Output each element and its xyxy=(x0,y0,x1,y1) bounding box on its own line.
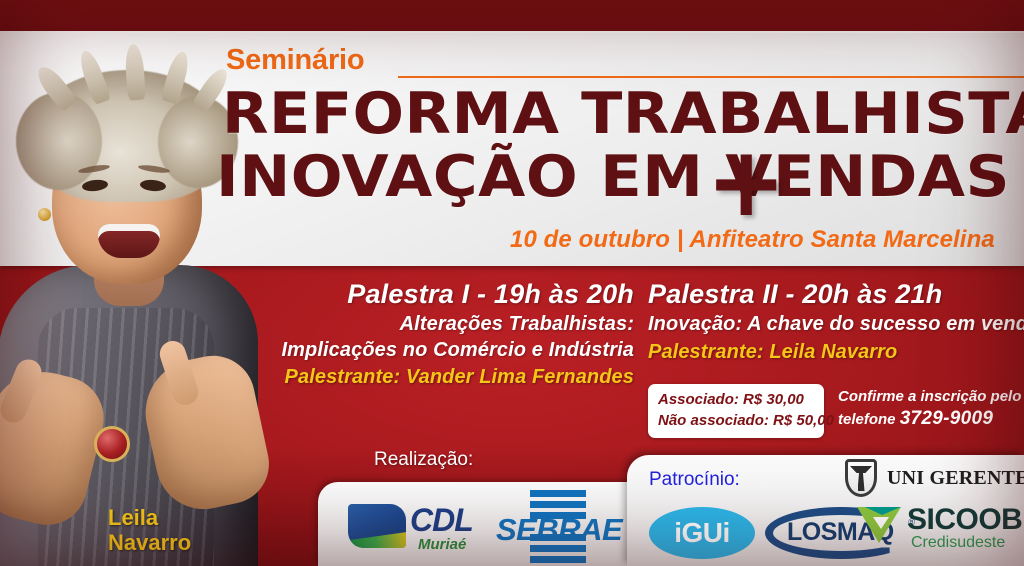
photo-ring xyxy=(94,426,130,462)
cdl-logo-text: CDL xyxy=(410,502,473,539)
patrocinio-panel: Patrocínio: UNI GERENTE iGUi LOSMAQ ® SI… xyxy=(627,455,1024,566)
necktie-icon xyxy=(858,467,865,491)
shield-icon xyxy=(845,459,877,497)
talk-one-line-1: Alterações Trabalhistas: xyxy=(0,311,634,337)
top-red-strip xyxy=(0,0,1024,31)
sicoob-logo[interactable]: SICOOB Credisudeste xyxy=(855,503,1019,559)
sicoob-triangle-icon xyxy=(855,505,903,545)
talk-one: Palestra I - 19h às 20h Alterações Traba… xyxy=(0,277,634,391)
realizacao-panel: CDL Muriaé SEBRAE xyxy=(318,482,654,566)
talk-one-heading: Palestra I - 19h às 20h xyxy=(0,277,634,311)
title-line-2: INOVAÇÃO EM VENDAS xyxy=(216,149,1010,206)
title-block: REFORMA TRABALHISTA INOVAÇÃO EM VENDAS + xyxy=(206,86,946,218)
talk-two-heading: Palestra II - 20h às 21h xyxy=(648,277,1024,311)
talk-one-speaker: Palestrante: Vander Lima Fernandes xyxy=(0,363,634,391)
cdl-logo-subtext: Muriaé xyxy=(418,536,466,553)
igui-logo[interactable]: iGUi xyxy=(649,507,755,559)
sebrae-logo[interactable]: SEBRAE xyxy=(496,490,646,560)
photo-mouth xyxy=(98,224,160,258)
realizacao-label: Realização: xyxy=(374,449,473,471)
cdl-logo[interactable]: CDL Muriaé xyxy=(348,498,498,556)
registration-note: Confirme a inscrição pelo telefone 3729-… xyxy=(838,386,1024,431)
talk-two: Palestra II - 20h às 21h Inovação: A cha… xyxy=(648,277,1024,366)
kicker-seminario: Seminário xyxy=(226,44,364,77)
title-plus-sign: + xyxy=(706,134,786,230)
uni-gerente-logo-text: UNI GERENTE xyxy=(887,467,1024,490)
photo-hair-spike xyxy=(124,44,146,101)
kicker-rule xyxy=(398,76,1024,78)
event-banner: Seminário REFORMA TRABALHISTA INOVAÇÃO E… xyxy=(0,0,1024,566)
event-date-venue: 10 de outubro | Anfiteatro Santa Marceli… xyxy=(510,226,995,254)
sicoob-logo-subtext: Credisudeste xyxy=(911,534,1005,552)
talk-two-line-1: Inovação: A chave do sucesso em vendas xyxy=(648,311,1024,338)
sebrae-logo-text: SEBRAE xyxy=(496,512,622,548)
talk-two-speaker: Palestrante: Leila Navarro xyxy=(648,338,1024,366)
cdl-mark-icon xyxy=(348,504,406,548)
patrocinio-label: Patrocínio: xyxy=(649,469,740,491)
price-associate: Associado: R$ 30,00 xyxy=(658,391,804,408)
photo-earring xyxy=(38,208,51,221)
photo-speaker-first-name: Leila xyxy=(108,505,158,530)
registration-line-1: Confirme a inscrição pelo xyxy=(838,386,1024,407)
registration-line-2: telefone 3729-9009 xyxy=(838,407,1024,431)
panel-hairline xyxy=(0,31,1024,33)
registration-phone-prefix: telefone xyxy=(838,411,900,428)
pricing-box: Associado: R$ 30,00 Não associado: R$ 50… xyxy=(648,384,824,438)
photo-speaker-name: LeilaNavarro xyxy=(108,505,191,555)
igui-logo-text: iGUi xyxy=(649,507,755,559)
sicoob-logo-text: SICOOB xyxy=(907,503,1022,537)
talk-one-line-2: Implicações no Comércio e Indústria xyxy=(0,337,634,363)
photo-speaker-last-name: Navarro xyxy=(108,530,191,555)
registration-phone-number[interactable]: 3729-9009 xyxy=(900,408,994,429)
title-line-1: REFORMA TRABALHISTA xyxy=(222,86,1024,143)
uni-gerente-logo[interactable]: UNI GERENTE xyxy=(845,459,1015,499)
price-non-associate: Não associado: R$ 50,00 xyxy=(658,412,834,429)
